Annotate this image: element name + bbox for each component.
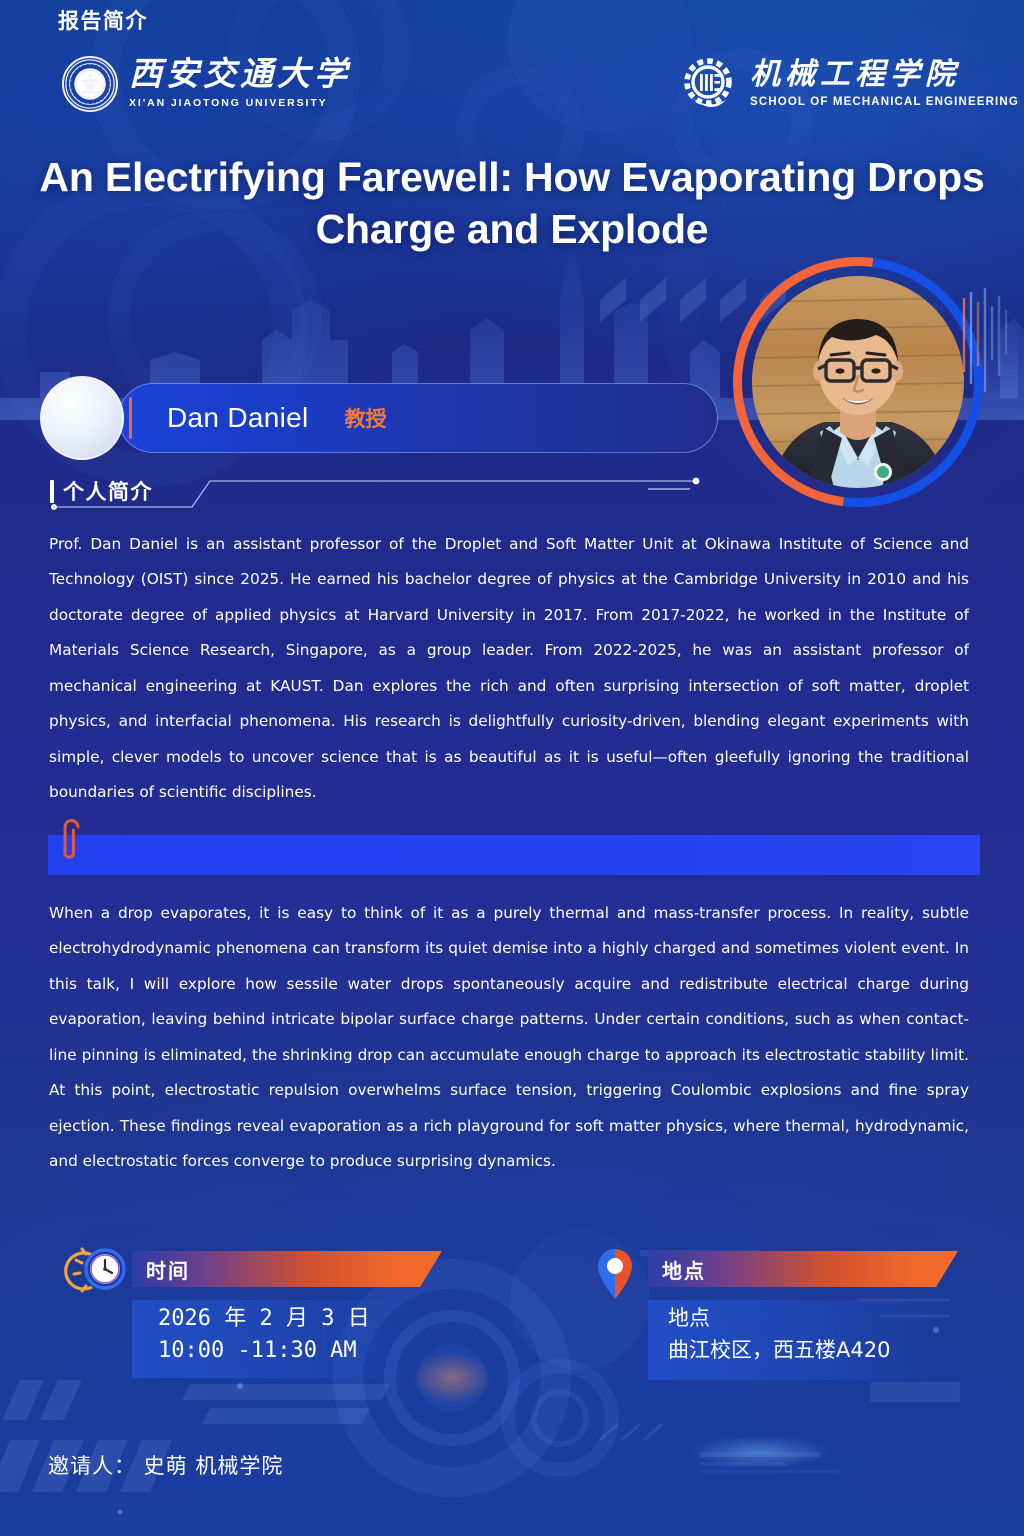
university-seal-icon <box>62 56 118 112</box>
sme-name-zh: 机械工程学院 <box>750 60 1019 90</box>
inviter-line: 邀请人： 史萌 机械学院 <box>48 1450 283 1480</box>
xjtu-name-en: XI'AN JIAOTONG UNIVERSITY <box>129 97 351 109</box>
time-date: 2026 年 2 月 3 日 <box>158 1302 370 1336</box>
time-block-header: 时间 <box>132 1251 442 1287</box>
avatar <box>40 376 124 460</box>
seal-glyph-icon <box>64 58 116 110</box>
xjtu-logo: 西安交通大学 XI'AN JIAOTONG UNIVERSITY <box>62 56 351 112</box>
map-pin-icon <box>592 1246 638 1304</box>
speaker-rank: 教授 <box>345 403 387 433</box>
seminar-poster: 西安交通大学 XI'AN JIAOTONG UNIVERSITY <box>0 0 1024 1536</box>
sme-logo: 机械工程学院 SCHOOL OF MECHANICAL ENGINEERING <box>678 54 1019 114</box>
time-hours: 10:00 -11:30 AM <box>158 1334 357 1368</box>
paperclip-icon <box>58 818 88 866</box>
xjtu-name-zh: 西安交通大学 <box>129 59 351 92</box>
speaker-portrait <box>733 257 983 507</box>
place-heading: 地点 <box>662 1251 706 1287</box>
speaker-photo <box>752 276 964 488</box>
clock-icon <box>72 1243 130 1299</box>
bio-section-header: 个人简介 <box>50 476 730 510</box>
place-line1: 地点 <box>668 1302 710 1335</box>
bio-divider <box>50 476 730 510</box>
vertical-accent-lines <box>962 288 1018 418</box>
poster-title: An Electrifying Farewell: How Evaporatin… <box>0 152 1024 255</box>
gear-me-icon <box>678 54 738 114</box>
speaker-accent-bar <box>129 397 132 439</box>
place-block-header: 地点 <box>648 1251 958 1287</box>
sme-name-en: SCHOOL OF MECHANICAL ENGINEERING <box>750 96 1019 108</box>
abstract-heading: 报告简介 <box>58 0 148 40</box>
abstract-section-banner <box>48 835 980 875</box>
time-heading: 时间 <box>146 1251 190 1287</box>
bio-text: Prof. Dan Daniel is an assistant profess… <box>49 527 969 811</box>
speaker-name: Dan Daniel <box>167 402 309 434</box>
speaker-bar: Dan Daniel 教授 <box>118 383 718 453</box>
abstract-text: When a drop evaporates, it is easy to th… <box>49 896 969 1180</box>
poster-header: 西安交通大学 XI'AN JIAOTONG UNIVERSITY <box>0 0 1024 140</box>
place-line2: 曲江校区，西五楼A420 <box>668 1334 890 1367</box>
